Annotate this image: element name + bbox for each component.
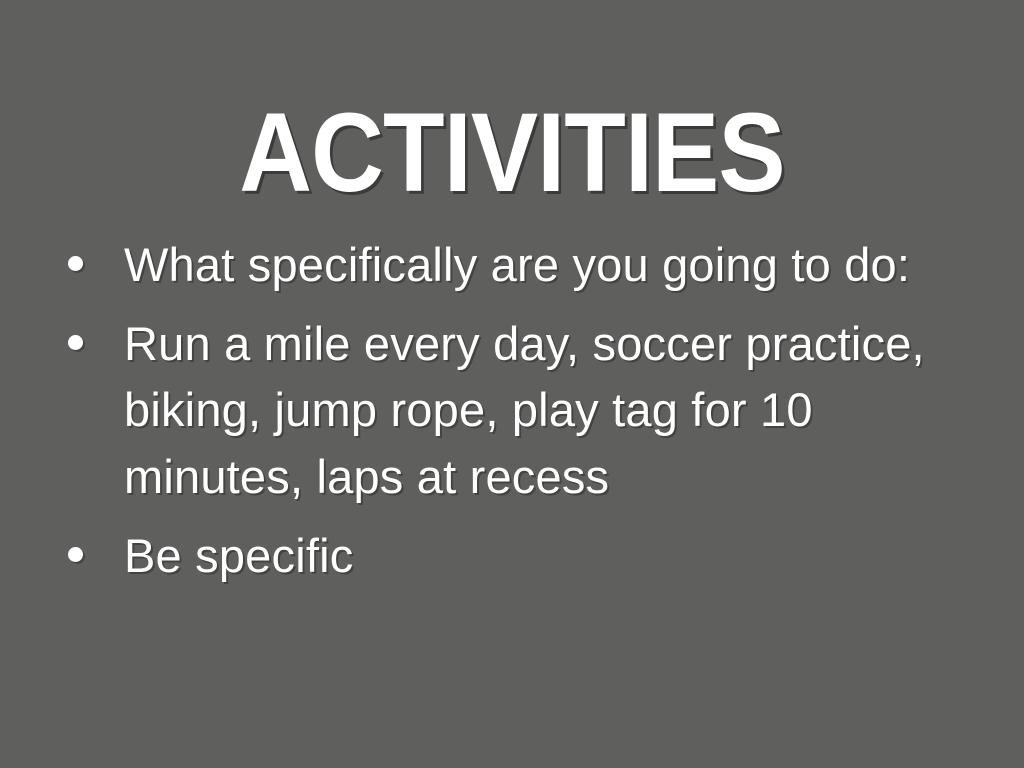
bullet-dot-icon <box>68 547 83 562</box>
bullet-text: Run a mile every day, soccer practice, b… <box>124 311 936 511</box>
list-item: What specifically are you going to do: <box>56 232 936 299</box>
slide-title: ACTIVITIES <box>51 97 973 209</box>
list-item: Run a mile every day, soccer practice, b… <box>56 311 936 511</box>
bullet-text: Be specific <box>124 523 936 590</box>
list-item: Be specific <box>56 523 936 590</box>
bullet-dot-icon <box>68 335 83 350</box>
presentation-slide: ACTIVITIES What specifically are you goi… <box>0 0 1024 768</box>
bullet-text: What specifically are you going to do: <box>124 232 936 299</box>
bullet-dot-icon <box>68 256 83 271</box>
slide-bullet-list: What specifically are you going to do: R… <box>56 232 936 590</box>
